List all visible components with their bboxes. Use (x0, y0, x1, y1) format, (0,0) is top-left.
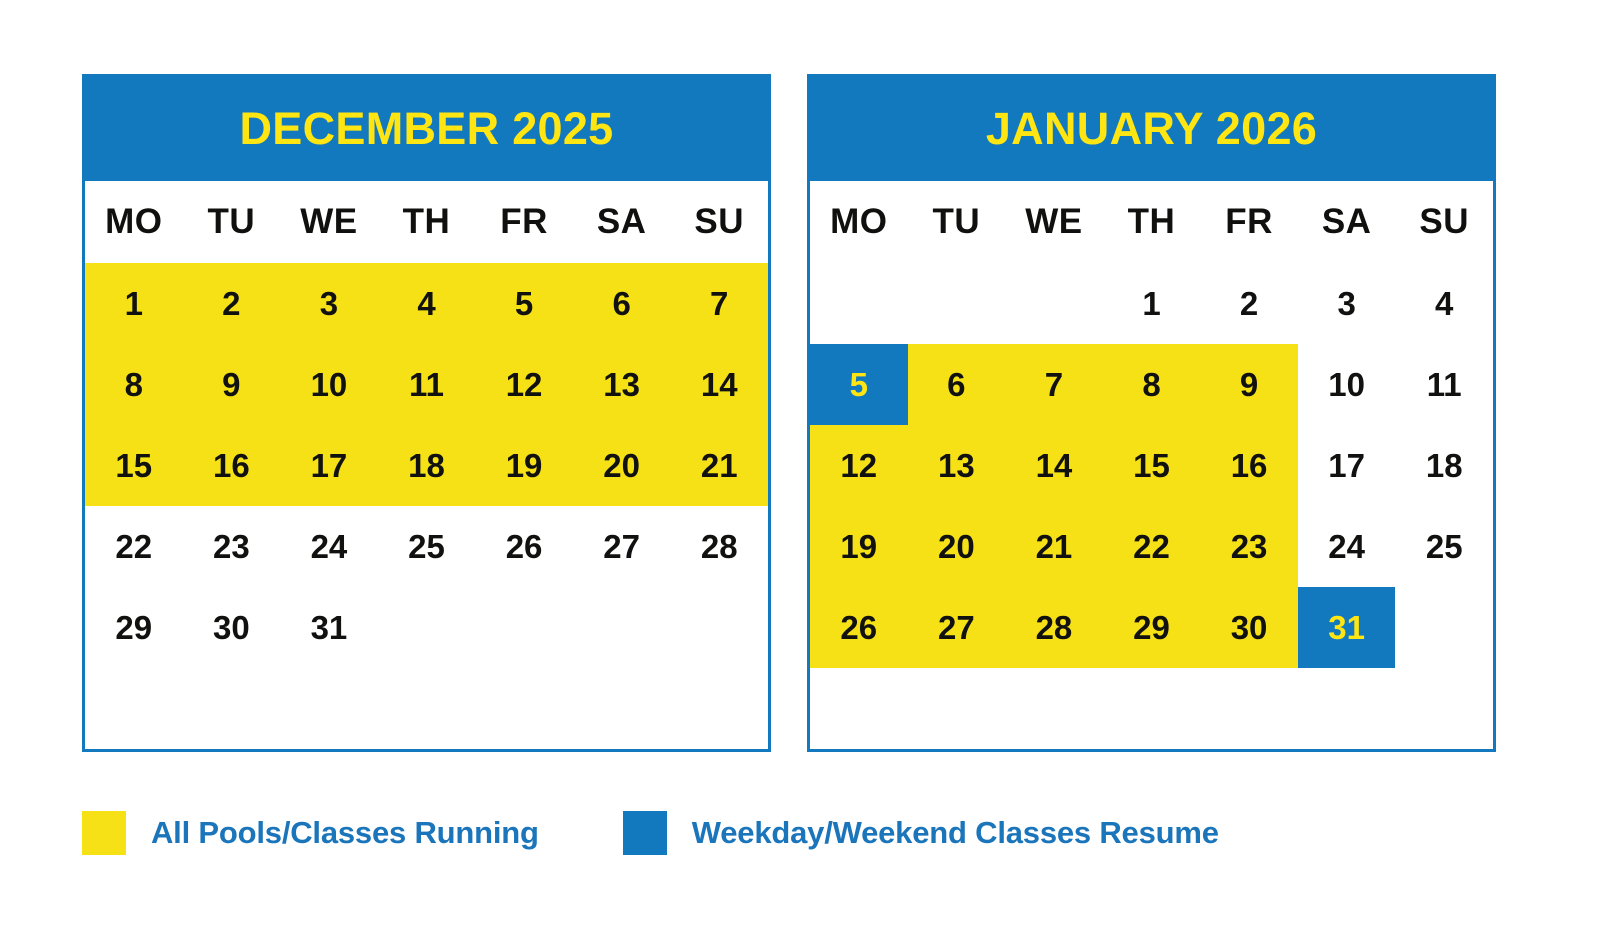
day-cell[interactable]: 21 (1005, 506, 1103, 587)
day-cell[interactable]: 23 (1200, 506, 1298, 587)
day-cell[interactable]: 16 (1200, 425, 1298, 506)
day-cell[interactable]: 10 (1298, 344, 1396, 425)
weekday-label-th: TH (1103, 181, 1201, 263)
day-cell[interactable]: 22 (1103, 506, 1201, 587)
day-cell[interactable]: 1 (85, 263, 183, 344)
day-cell[interactable]: 17 (280, 425, 378, 506)
day-cell[interactable]: 16 (183, 425, 281, 506)
day-cell[interactable]: 5 (810, 344, 908, 425)
weekday-label-tu: TU (908, 181, 1006, 263)
day-cell[interactable]: 21 (670, 425, 768, 506)
weekday-label-fr: FR (475, 181, 573, 263)
weekday-label-sa: SA (1298, 181, 1396, 263)
day-cell[interactable]: 19 (810, 506, 908, 587)
day-cell[interactable]: 2 (1200, 263, 1298, 344)
weekday-header-row: MOTUWETHFRSASU (810, 181, 1493, 263)
day-cell-empty (1395, 668, 1493, 749)
weekday-label-we: WE (1005, 181, 1103, 263)
day-cell[interactable]: 30 (183, 587, 281, 668)
calendar-title: DECEMBER 2025 (239, 103, 613, 155)
weekday-label-tu: TU (183, 181, 281, 263)
day-cell-empty (573, 668, 671, 749)
day-cell-empty (810, 668, 908, 749)
day-cell[interactable]: 27 (573, 506, 671, 587)
day-cell[interactable]: 20 (908, 506, 1006, 587)
day-cell[interactable]: 29 (85, 587, 183, 668)
day-cell[interactable]: 14 (670, 344, 768, 425)
day-cell[interactable]: 15 (1103, 425, 1201, 506)
day-cell-empty (1005, 668, 1103, 749)
day-cell[interactable]: 24 (280, 506, 378, 587)
day-cell[interactable]: 12 (475, 344, 573, 425)
day-cell[interactable]: 12 (810, 425, 908, 506)
day-cell[interactable]: 8 (1103, 344, 1201, 425)
day-cell-empty (1395, 587, 1493, 668)
weekday-label-sa: SA (573, 181, 671, 263)
day-cell-empty (378, 668, 476, 749)
day-cell[interactable]: 7 (670, 263, 768, 344)
day-cell[interactable]: 18 (1395, 425, 1493, 506)
day-cell[interactable]: 6 (573, 263, 671, 344)
weekday-label-mo: MO (85, 181, 183, 263)
day-cell-empty (378, 587, 476, 668)
day-cell[interactable]: 28 (670, 506, 768, 587)
legend-label: Weekday/Weekend Classes Resume (692, 815, 1219, 851)
day-cell[interactable]: 11 (378, 344, 476, 425)
day-cell-empty (1298, 668, 1396, 749)
day-cell[interactable]: 24 (1298, 506, 1396, 587)
day-cell[interactable]: 4 (378, 263, 476, 344)
calendar-header-december-2025: DECEMBER 2025 (85, 77, 768, 181)
day-cell-empty (1005, 263, 1103, 344)
day-cell[interactable]: 9 (1200, 344, 1298, 425)
day-cell[interactable]: 30 (1200, 587, 1298, 668)
legend-swatch-yellow (82, 811, 126, 855)
day-cell-empty (908, 668, 1006, 749)
day-cell[interactable]: 29 (1103, 587, 1201, 668)
day-cell[interactable]: 7 (1005, 344, 1103, 425)
day-cell[interactable]: 8 (85, 344, 183, 425)
day-cell[interactable]: 2 (183, 263, 281, 344)
calendar-body-january-2026: MOTUWETHFRSASU12345678910111213141516171… (810, 181, 1493, 749)
day-cell-empty (908, 263, 1006, 344)
day-cell[interactable]: 23 (183, 506, 281, 587)
calendar-group: DECEMBER 2025MOTUWETHFRSASU1234567891011… (82, 74, 1496, 752)
day-cell[interactable]: 27 (908, 587, 1006, 668)
day-cell-empty (1103, 668, 1201, 749)
weekday-header-row: MOTUWETHFRSASU (85, 181, 768, 263)
day-cell-empty (85, 668, 183, 749)
weekday-label-mo: MO (810, 181, 908, 263)
day-cell[interactable]: 22 (85, 506, 183, 587)
day-cell[interactable]: 25 (378, 506, 476, 587)
day-cell[interactable]: 1 (1103, 263, 1201, 344)
weekday-label-th: TH (378, 181, 476, 263)
day-cell[interactable]: 4 (1395, 263, 1493, 344)
day-cell-empty (670, 587, 768, 668)
calendar-page: DECEMBER 2025MOTUWETHFRSASU1234567891011… (0, 0, 1600, 936)
day-cell[interactable]: 6 (908, 344, 1006, 425)
day-cell-empty (280, 668, 378, 749)
weekday-label-fr: FR (1200, 181, 1298, 263)
day-cell-empty (670, 668, 768, 749)
legend-label: All Pools/Classes Running (151, 815, 539, 851)
day-cell[interactable]: 26 (810, 587, 908, 668)
day-cell[interactable]: 3 (1298, 263, 1396, 344)
day-cell[interactable]: 10 (280, 344, 378, 425)
day-cell-empty (1200, 668, 1298, 749)
day-cell[interactable]: 20 (573, 425, 671, 506)
day-cell-empty (475, 587, 573, 668)
day-cell[interactable]: 31 (1298, 587, 1396, 668)
legend-item-blue: Weekday/Weekend Classes Resume (623, 811, 1219, 855)
day-cell[interactable]: 5 (475, 263, 573, 344)
day-cell-empty (573, 587, 671, 668)
calendar-header-january-2026: JANUARY 2026 (810, 77, 1493, 181)
day-cell[interactable]: 28 (1005, 587, 1103, 668)
day-cell[interactable]: 26 (475, 506, 573, 587)
calendar-title: JANUARY 2026 (986, 103, 1317, 155)
day-cell[interactable]: 9 (183, 344, 281, 425)
day-cell[interactable]: 25 (1395, 506, 1493, 587)
calendar-december-2025: DECEMBER 2025MOTUWETHFRSASU1234567891011… (82, 74, 771, 752)
calendar-january-2026: JANUARY 2026MOTUWETHFRSASU12345678910111… (807, 74, 1496, 752)
weekday-label-su: SU (1395, 181, 1493, 263)
day-grid: 1234567891011121314151617181920212223242… (85, 263, 768, 749)
legend-swatch-blue (623, 811, 667, 855)
day-cell[interactable]: 19 (475, 425, 573, 506)
day-grid: 1234567891011121314151617181920212223242… (810, 263, 1493, 749)
day-cell[interactable]: 18 (378, 425, 476, 506)
day-cell[interactable]: 11 (1395, 344, 1493, 425)
day-cell-empty (183, 668, 281, 749)
day-cell[interactable]: 15 (85, 425, 183, 506)
weekday-label-su: SU (670, 181, 768, 263)
day-cell[interactable]: 13 (908, 425, 1006, 506)
legend: All Pools/Classes RunningWeekday/Weekend… (82, 811, 1219, 855)
day-cell[interactable]: 3 (280, 263, 378, 344)
day-cell-empty (810, 263, 908, 344)
day-cell-empty (475, 668, 573, 749)
day-cell[interactable]: 14 (1005, 425, 1103, 506)
legend-item-yellow: All Pools/Classes Running (82, 811, 539, 855)
day-cell[interactable]: 17 (1298, 425, 1396, 506)
calendar-body-december-2025: MOTUWETHFRSASU12345678910111213141516171… (85, 181, 768, 749)
weekday-label-we: WE (280, 181, 378, 263)
day-cell[interactable]: 31 (280, 587, 378, 668)
day-cell[interactable]: 13 (573, 344, 671, 425)
